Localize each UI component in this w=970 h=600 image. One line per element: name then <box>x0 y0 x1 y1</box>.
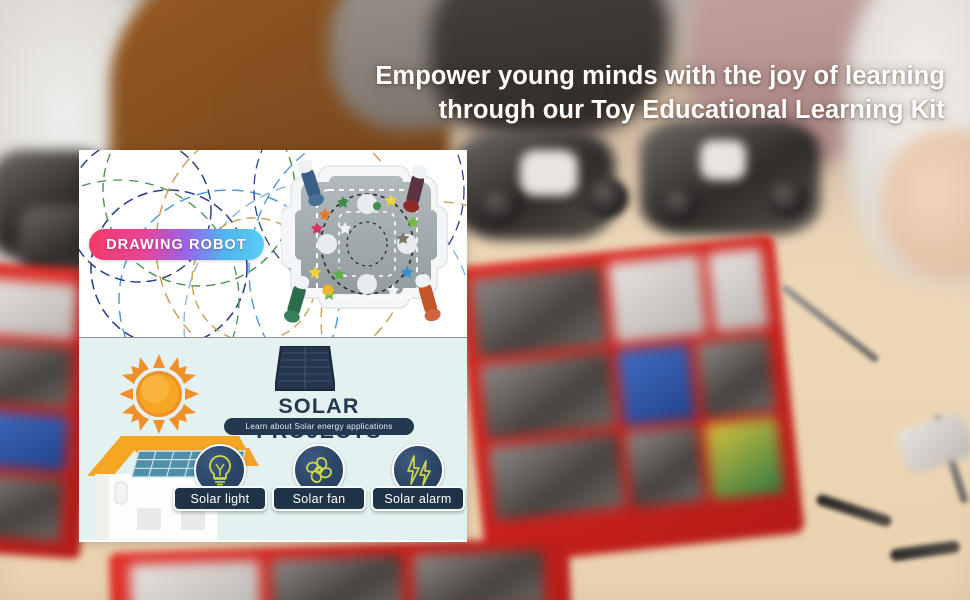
solar-panel-icon <box>275 346 335 392</box>
toy-wheel <box>585 178 629 218</box>
feature-label: Solar light <box>191 492 250 506</box>
solar-projects-subtitle: Learn about Solar energy applications <box>245 422 392 431</box>
toy-wheel <box>766 180 808 218</box>
product-feature-card: DRAWING ROBOT <box>79 150 467 542</box>
feature-label-box: Solar alarm <box>371 486 465 511</box>
feature-label-box: Solar fan <box>272 486 366 511</box>
feature-label-box: Solar light <box>173 486 267 511</box>
drawing-robot-section: DRAWING ROBOT <box>79 150 467 338</box>
headline: Empower young minds with the joy of lear… <box>360 60 945 128</box>
feature-label: Solar fan <box>293 492 346 506</box>
headline-line-1: Empower young minds with the joy of lear… <box>375 62 945 90</box>
solar-feature-list: Solar light <box>173 444 463 536</box>
parts-tray-main <box>455 234 805 566</box>
lightbulb-icon <box>205 454 235 486</box>
toy-wheel <box>478 186 522 226</box>
drawing-robot-badge: DRAWING ROBOT <box>89 229 264 260</box>
feature-label: Solar alarm <box>384 492 451 506</box>
drawing-robot-illustration <box>281 160 453 328</box>
screenshot-root: Empower young minds with the joy of lear… <box>0 0 970 600</box>
toy-wheel <box>660 186 700 222</box>
fan-icon <box>303 454 335 486</box>
drawing-robot-badge-label: DRAWING ROBOT <box>106 237 247 253</box>
headline-line-2: through our Toy Educational Learning Kit <box>360 94 945 128</box>
solar-projects-section: SOLAR PROJECTS Learn about Solar energy … <box>79 338 467 540</box>
lightning-icon <box>403 454 433 486</box>
sun-icon <box>119 354 199 434</box>
